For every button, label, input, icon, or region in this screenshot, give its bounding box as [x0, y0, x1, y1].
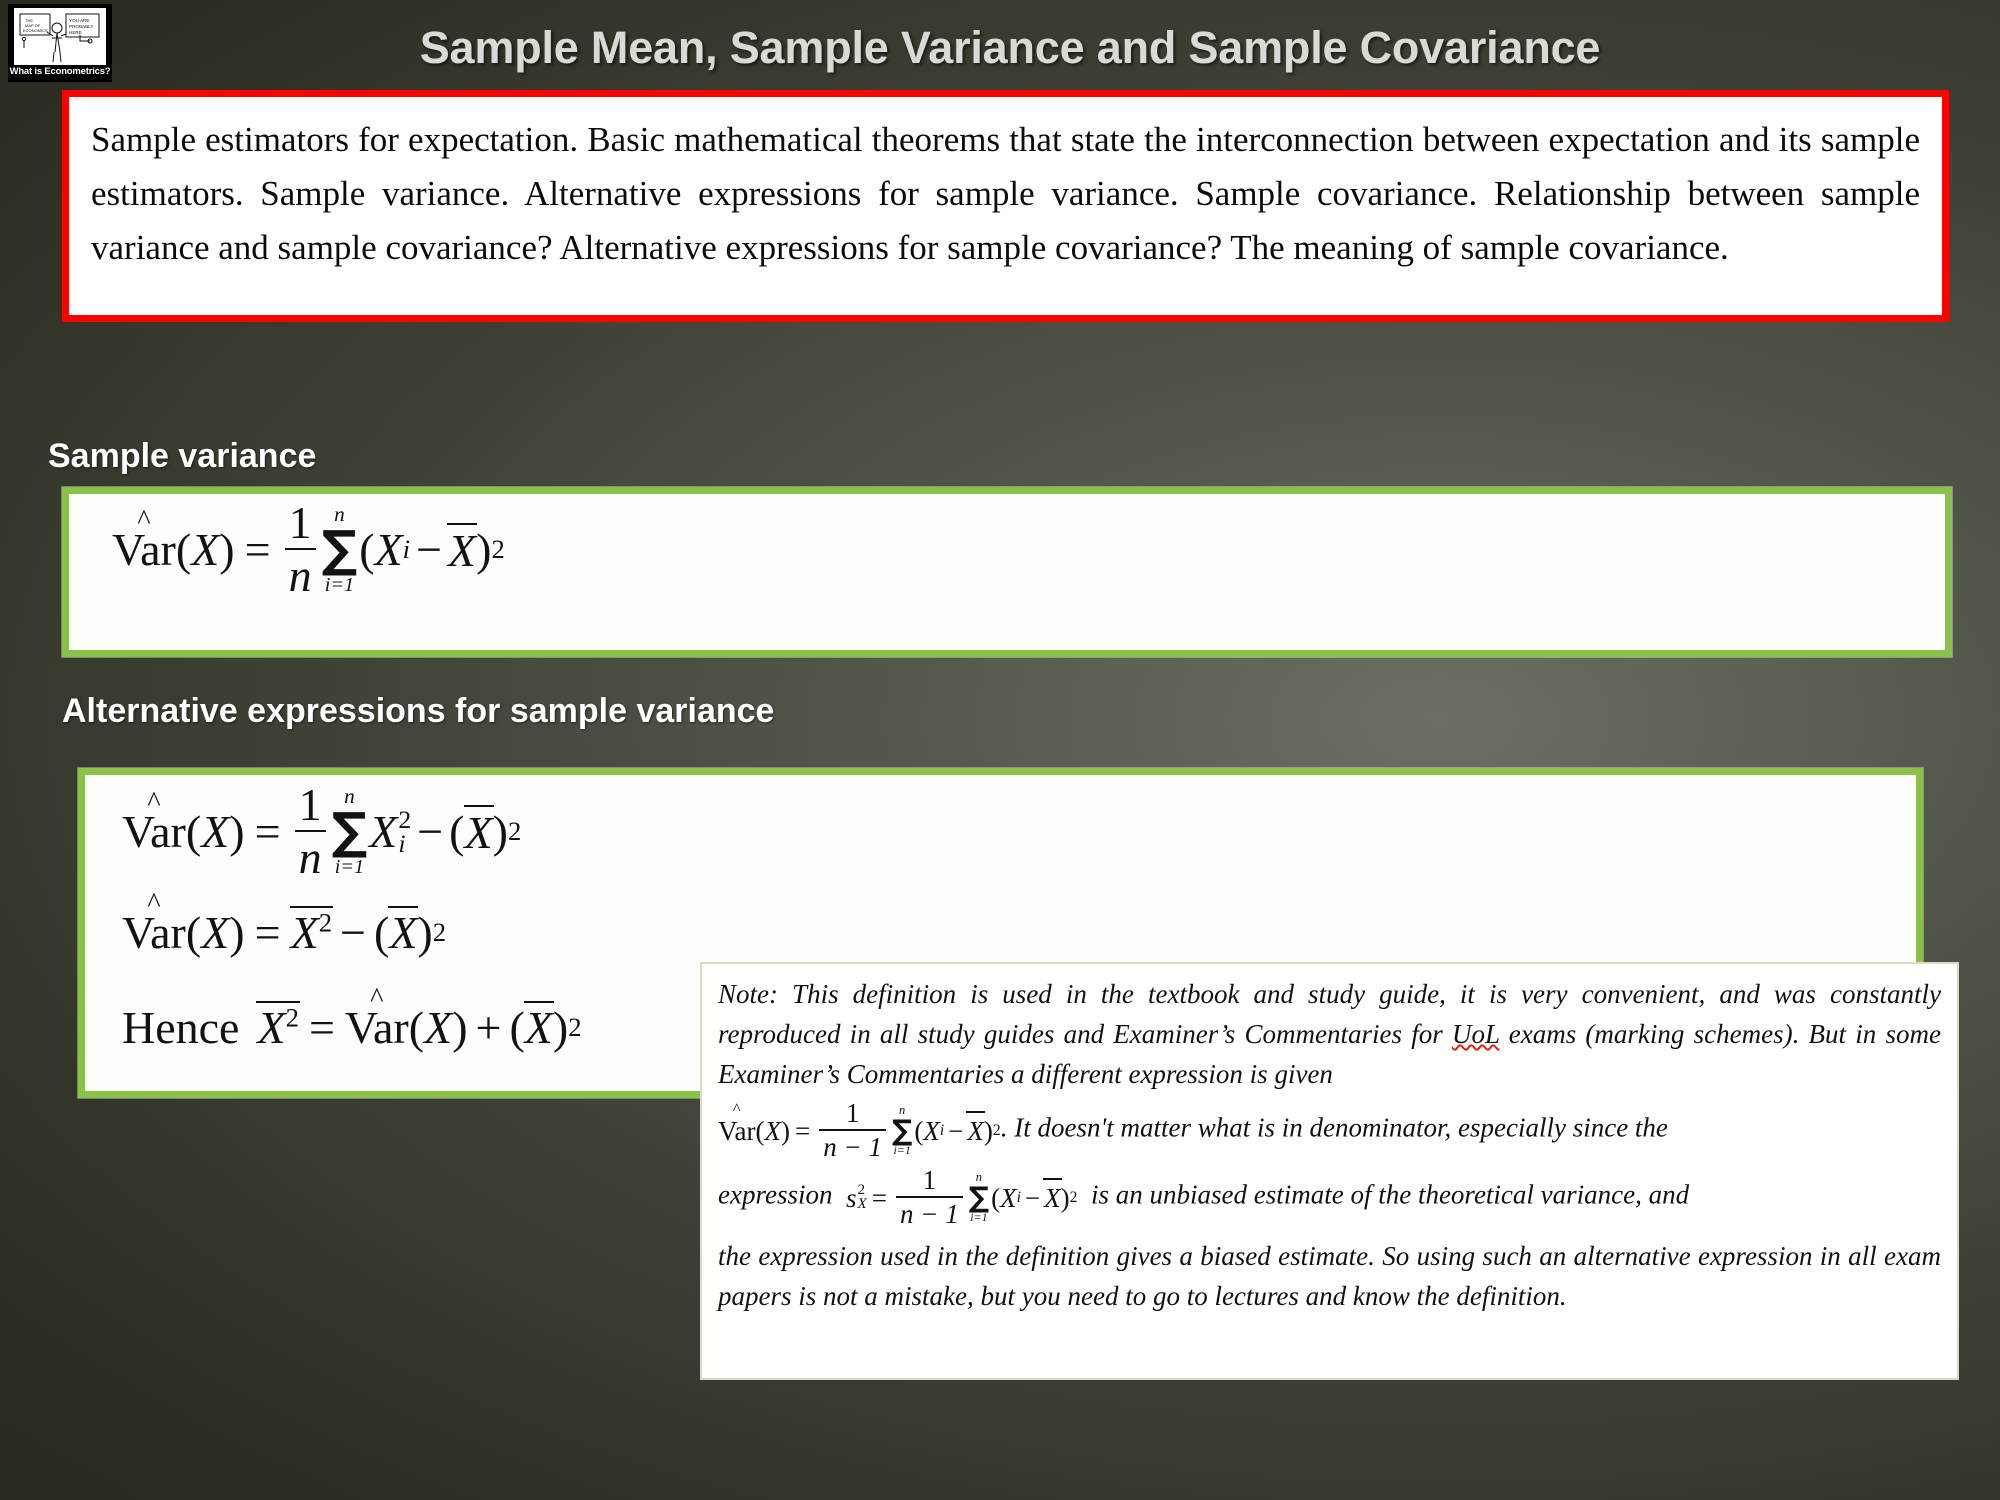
formula-alternative-1: ^Var(X) = 1 n n ∑ i=1 X2i −(X)2 — [122, 782, 521, 881]
note-paragraph-1: Note: This definition is used in the tex… — [718, 974, 1941, 1094]
note-paragraph-3: expression s2X = 1 n − 1 n ∑ i=1 (Xi−X)2… — [718, 1167, 1941, 1228]
summary-box: Sample estimators for expectation. Basic… — [62, 90, 1949, 322]
formula-hence: Hence X2 = ^Var(X) +(X)2 — [122, 1000, 582, 1054]
logo-caption: What is Econometrics? — [10, 65, 111, 78]
formula-note-inline-2: s2X = 1 n − 1 n ∑ i=1 (Xi−X)2 — [846, 1167, 1078, 1228]
section-heading-sample-variance: Sample variance — [48, 437, 316, 476]
note-paragraph-4: the expression used in the definition gi… — [718, 1236, 1941, 1316]
econometrics-logo: THE MAP OF ECONOMICS YOU ARE PROBABLY HE… — [8, 4, 112, 82]
svg-text:PROBABLY: PROBABLY — [69, 24, 93, 29]
page-title: Sample Mean, Sample Variance and Sample … — [150, 22, 1870, 74]
formula-alternative-2: ^Var(X) = X2 −(X)2 — [122, 905, 446, 959]
formula-sample-variance: ^Var(X) = 1 n n ∑ i=1 (Xi−X)2 — [112, 500, 505, 599]
section-heading-alternative-expressions: Alternative expressions for sample varia… — [62, 692, 774, 731]
note-label: Note — [718, 979, 769, 1009]
slide-root: THE MAP OF ECONOMICS YOU ARE PROBABLY HE… — [0, 0, 2000, 1500]
note-paragraph-2: ^Var(X) = 1 n − 1 n ∑ i=1 (Xi−X)2 . It d… — [718, 1100, 1941, 1161]
formula-note-inline-1: ^Var(X) = 1 n − 1 n ∑ i=1 (Xi−X)2 — [718, 1100, 1001, 1161]
svg-text:YOU ARE: YOU ARE — [69, 18, 89, 23]
svg-text:HERE: HERE — [69, 30, 82, 35]
note-box: Note: This definition is used in the tex… — [700, 962, 1959, 1380]
summary-text: Sample estimators for expectation. Basic… — [91, 113, 1920, 275]
note-text-segment-3: . It doesn't matter what is in denominat… — [1001, 1113, 1668, 1143]
cartoon-illustration-icon: THE MAP OF ECONOMICS YOU ARE PROBABLY HE… — [14, 8, 106, 65]
note-text-segment-5: is an unbiased estimate of the theoretic… — [1091, 1180, 1689, 1210]
svg-text:ECONOMICS: ECONOMICS — [23, 28, 48, 33]
note-text-segment-4: expression — [718, 1180, 832, 1210]
note-misspelled-word: UoL — [1452, 1019, 1500, 1049]
